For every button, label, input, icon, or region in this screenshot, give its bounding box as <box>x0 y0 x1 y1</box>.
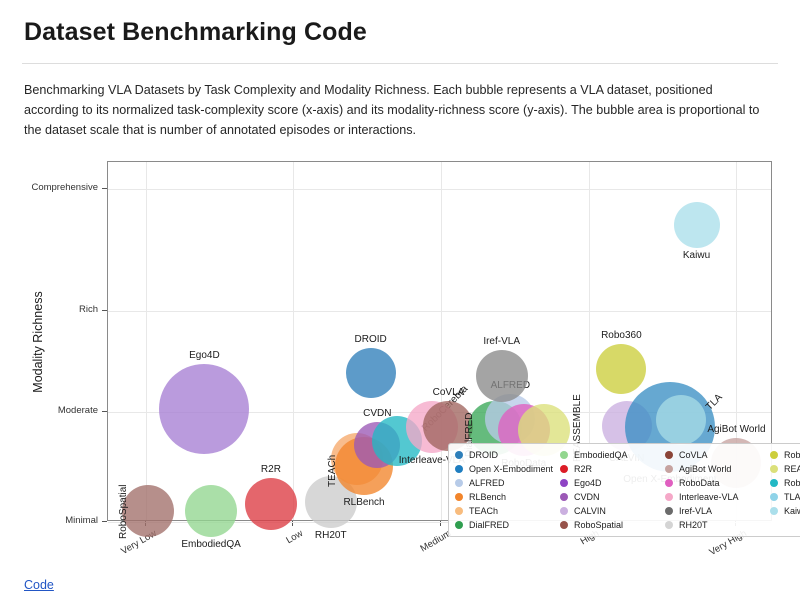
legend-column-4: Robo360REASSEMBLERoboCerebraTLAKaiwu <box>770 449 800 531</box>
page-title: Dataset Benchmarking Code <box>24 18 367 47</box>
legend-label: TEACh <box>469 506 498 516</box>
plot-frame: RoboSpatialEmbodiedQAR2RRH20TEgo4DTEAChR… <box>107 161 772 521</box>
bubble-droid[interactable] <box>346 348 396 398</box>
y-tick-label-wrap: Comprehensive <box>0 182 98 194</box>
legend-label: Robo360 <box>784 450 800 460</box>
gridline-vertical <box>441 162 442 520</box>
y-tick-label-wrap: Minimal <box>0 515 98 527</box>
legend-label: Interleave-VLA <box>679 492 739 502</box>
legend-item[interactable]: TLA <box>770 491 800 503</box>
legend-label: TLA <box>784 492 800 502</box>
legend-column-1: DROIDOpen X-EmbodimentALFREDRLBenchTEACh… <box>455 449 560 531</box>
legend-label: CVDN <box>574 492 600 502</box>
legend-label: RoboSpatial <box>574 520 623 530</box>
gridline-horizontal <box>108 311 771 312</box>
legend-column-3: CoVLAAgiBot WorldRoboDataInterleave-VLAI… <box>665 449 770 531</box>
legend-swatch-icon <box>455 479 463 487</box>
legend-swatch-icon <box>770 493 778 501</box>
bubble-kaiwu[interactable] <box>674 202 720 248</box>
chart-description: Benchmarking VLA Datasets by Task Comple… <box>24 80 764 140</box>
legend-item[interactable]: CoVLA <box>665 449 770 461</box>
bubble-label-droid: DROID <box>355 334 387 345</box>
legend-label: ALFRED <box>469 478 505 488</box>
legend-label: REASSEMBLE <box>784 464 800 474</box>
legend-swatch-icon <box>455 521 463 529</box>
legend-swatch-icon <box>560 479 568 487</box>
legend-swatch-icon <box>665 479 673 487</box>
legend-item[interactable]: RoboCerebra <box>770 477 800 489</box>
legend-label: CALVIN <box>574 506 606 516</box>
bubble-label-r2r: R2R <box>261 464 281 475</box>
legend-label: AgiBot World <box>679 464 731 474</box>
legend-swatch-icon <box>770 465 778 473</box>
gridline-horizontal <box>108 189 771 190</box>
chart-legend: DROIDOpen X-EmbodimentALFREDRLBenchTEACh… <box>448 443 800 537</box>
legend-label: RoboCerebra <box>784 478 800 488</box>
bubble-label-robo360: Robo360 <box>601 330 642 341</box>
legend-swatch-icon <box>665 451 673 459</box>
legend-swatch-icon <box>560 521 568 529</box>
bubble-r2r[interactable] <box>245 478 297 530</box>
title-divider <box>22 63 778 64</box>
legend-label: RH20T <box>679 520 708 530</box>
bubble-label-covla: CoVLA <box>433 387 465 398</box>
bubble-iref-vla[interactable] <box>476 350 528 402</box>
y-tick-label: Comprehensive <box>31 182 98 193</box>
bubble-chart: Modality Richness MinimalModerateRichCom… <box>0 150 800 570</box>
legend-label: Iref-VLA <box>679 506 712 516</box>
bubble-embodiedqa[interactable] <box>185 485 237 537</box>
legend-swatch-icon <box>560 465 568 473</box>
legend-swatch-icon <box>665 493 673 501</box>
legend-item[interactable]: DROID <box>455 449 560 461</box>
legend-swatch-icon <box>770 507 778 515</box>
legend-swatch-icon <box>770 451 778 459</box>
legend-item[interactable]: Kaiwu <box>770 505 800 517</box>
legend-item[interactable]: ALFRED <box>455 477 560 489</box>
legend-swatch-icon <box>560 493 568 501</box>
bubble-robospatial[interactable] <box>122 485 174 537</box>
legend-item[interactable]: Open X-Embodiment <box>455 463 560 475</box>
legend-item[interactable]: RoboSpatial <box>560 519 665 531</box>
bubble-label-robospatial: RoboSpatial <box>118 485 129 539</box>
bubble-label-embodiedqa: EmbodiedQA <box>181 539 240 550</box>
bubble-label-iref-vla: Iref-VLA <box>483 336 520 347</box>
bubble-label-kaiwu: Kaiwu <box>683 250 710 261</box>
legend-label: DROID <box>469 450 498 460</box>
legend-label: Kaiwu <box>784 506 800 516</box>
y-tick-label: Moderate <box>58 405 98 416</box>
gridline-vertical <box>146 162 147 520</box>
legend-label: RLBench <box>469 492 506 502</box>
legend-swatch-icon <box>455 465 463 473</box>
legend-swatch-icon <box>665 521 673 529</box>
legend-swatch-icon <box>455 507 463 515</box>
bubble-label-ego4d: Ego4D <box>189 350 220 361</box>
bubble-label-agibot-world: AgiBot World <box>707 424 765 435</box>
legend-item[interactable]: DialFRED <box>455 519 560 531</box>
y-tick-label: Minimal <box>65 515 98 526</box>
legend-label: R2R <box>574 464 592 474</box>
legend-item[interactable]: Ego4D <box>560 477 665 489</box>
legend-item[interactable]: RH20T <box>665 519 770 531</box>
legend-swatch-icon <box>665 465 673 473</box>
legend-item[interactable]: TEACh <box>455 505 560 517</box>
legend-label: DialFRED <box>469 520 509 530</box>
legend-swatch-icon <box>455 493 463 501</box>
y-tick-label: Rich <box>79 304 98 315</box>
legend-label: CoVLA <box>679 450 708 460</box>
legend-swatch-icon <box>560 451 568 459</box>
y-tick-label-wrap: Moderate <box>0 405 98 417</box>
bubble-label-rlbench: RLBench <box>343 497 384 508</box>
legend-label: EmbodiedQA <box>574 450 628 460</box>
legend-item[interactable]: RLBench <box>455 491 560 503</box>
legend-swatch-icon <box>455 451 463 459</box>
document-page: Dataset Benchmarking Code Benchmarking V… <box>0 0 800 612</box>
legend-label: RoboData <box>679 478 720 488</box>
legend-item[interactable]: EmbodiedQA <box>560 449 665 461</box>
legend-item[interactable]: AgiBot World <box>665 463 770 475</box>
code-link[interactable]: Code <box>24 578 54 592</box>
legend-item[interactable]: Iref-VLA <box>665 505 770 517</box>
legend-swatch-icon <box>665 507 673 515</box>
y-axis-title: Modality Richness <box>31 282 45 402</box>
legend-swatch-icon <box>560 507 568 515</box>
legend-label: Open X-Embodiment <box>469 464 553 474</box>
x-tick-label: Low <box>285 528 306 546</box>
legend-swatch-icon <box>770 479 778 487</box>
legend-column-2: EmbodiedQAR2REgo4DCVDNCALVINRoboSpatial <box>560 449 665 531</box>
gridline-vertical <box>293 162 294 520</box>
bubble-robo360[interactable] <box>596 344 646 394</box>
legend-item[interactable]: RoboData <box>665 477 770 489</box>
legend-item[interactable]: Interleave-VLA <box>665 491 770 503</box>
bubble-ego4d[interactable] <box>159 364 249 454</box>
y-tick-mark <box>102 521 107 522</box>
legend-item[interactable]: CALVIN <box>560 505 665 517</box>
legend-item[interactable]: REASSEMBLE <box>770 463 800 475</box>
legend-item[interactable]: CVDN <box>560 491 665 503</box>
y-tick-label-wrap: Rich <box>0 304 98 316</box>
bubble-label-rh20t: RH20T <box>315 530 347 541</box>
legend-item[interactable]: R2R <box>560 463 665 475</box>
legend-label: Ego4D <box>574 478 602 488</box>
legend-item[interactable]: Robo360 <box>770 449 800 461</box>
